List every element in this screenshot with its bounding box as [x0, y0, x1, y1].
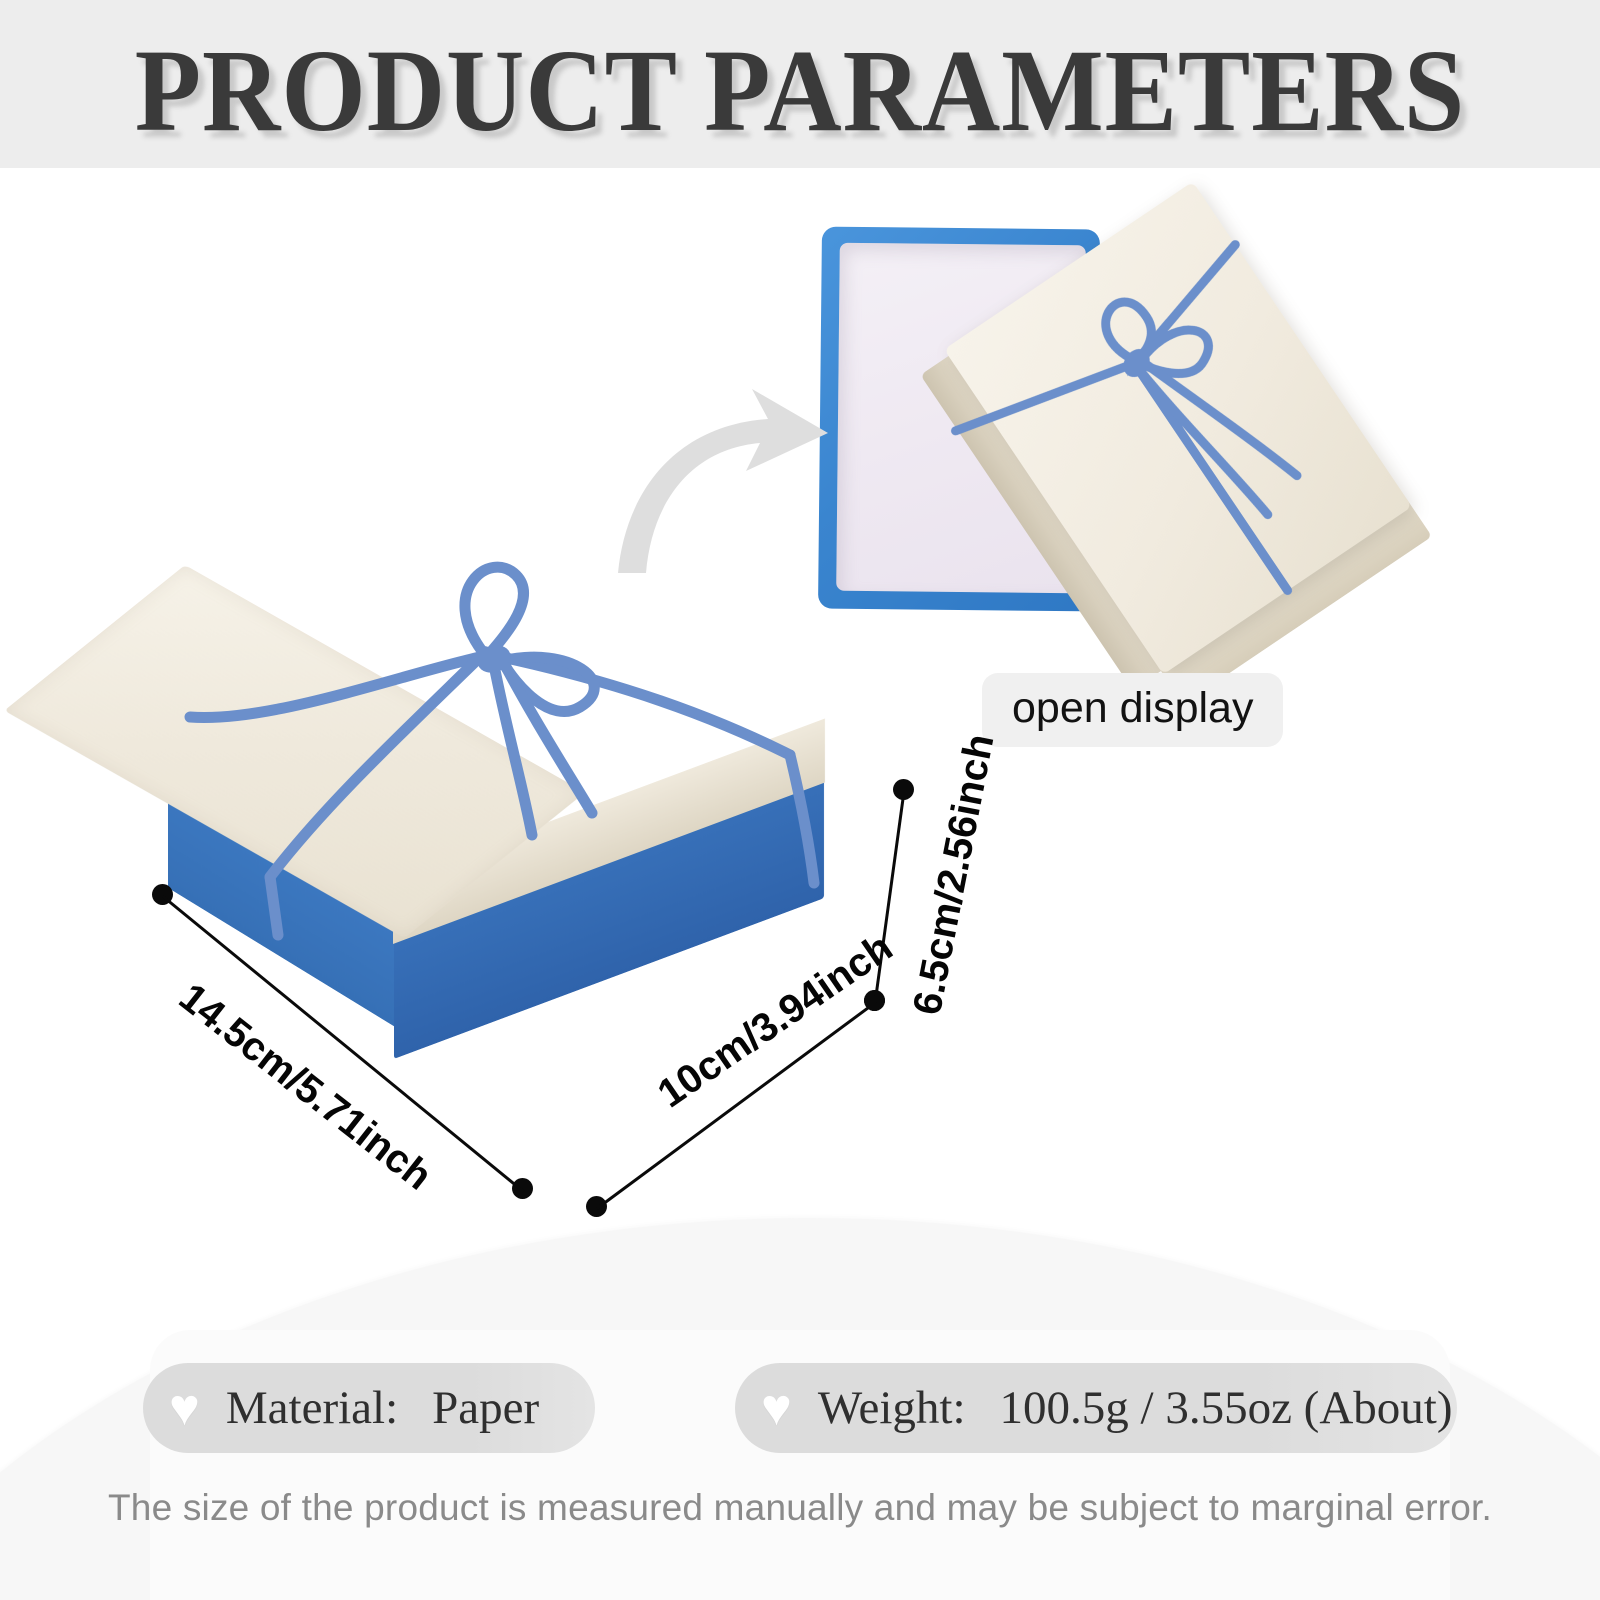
spec-badge-row: ♥ Material: Paper ♥ Weight: 100.5g / 3.5… — [0, 1363, 1600, 1459]
spec-badge-material: ♥ Material: Paper — [143, 1363, 595, 1453]
measurement-disclaimer: The size of the product is measured manu… — [0, 1487, 1600, 1529]
material-value: Paper — [432, 1381, 539, 1435]
product-parameters-infographic: PRODUCT PARAMETERS open display — [0, 0, 1600, 1600]
weight-value: 100.5g / 3.55oz (About) — [1000, 1381, 1453, 1435]
weight-label: Weight: — [818, 1381, 966, 1435]
heart-icon: ♥ — [169, 1382, 200, 1434]
heart-icon: ♥ — [761, 1382, 792, 1434]
page-title: PRODUCT PARAMETERS — [64, 32, 1536, 150]
spec-badge-weight: ♥ Weight: 100.5g / 3.55oz (About) — [735, 1363, 1457, 1453]
dimension-height-label: 6.5cm/2.56inch — [905, 731, 1003, 1019]
open-display-label: open display — [982, 673, 1283, 747]
material-label: Material: — [226, 1381, 398, 1435]
